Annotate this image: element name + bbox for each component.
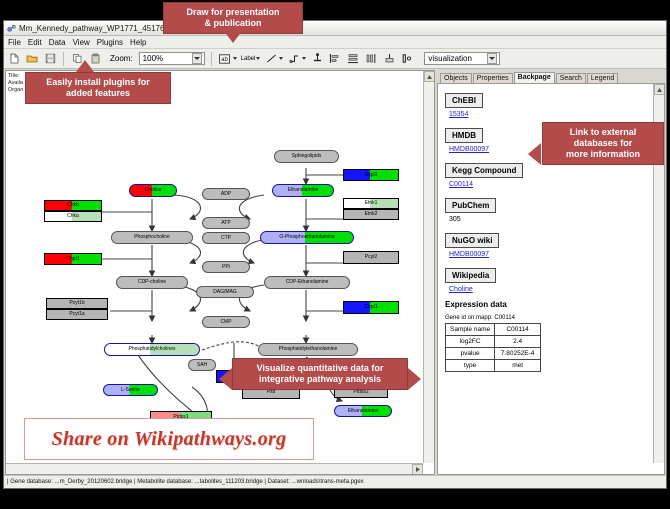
callout-visualize: Visualize quantitative data for integrat… [232,358,408,390]
toolbar-separator [63,52,64,66]
zoom-combobox[interactable]: 100% [139,52,205,65]
menu-view[interactable]: View [73,38,90,47]
node-sphingolipids[interactable]: Sphingolipids [274,150,339,163]
gene-etnk2[interactable]: Etnk2 [343,209,399,220]
status-bar: | Gene database: ...m_Derby_20120602.bri… [4,475,666,488]
node-atp[interactable]: ATP [202,217,250,229]
node-o-phosphoethanolamine[interactable]: O-Phosphoethanolamine [260,231,354,244]
callout-plugins: Easily install plugins for added feature… [25,72,171,104]
db-link-chebi[interactable]: 15354 [449,111,646,118]
status-text: | Gene database: ...m_Derby_20120602.bri… [7,479,364,485]
pathvisio-icon [7,24,16,33]
save-icon[interactable] [43,52,57,66]
gene-chpt1[interactable]: Chpt1 [44,253,102,265]
gene-id-label: Gene id on mapp: C00114 [445,315,646,321]
gene-chka[interactable]: Chka [44,211,102,222]
align-left-icon[interactable] [328,52,342,66]
table-row: log2FC 2.4 [446,336,541,348]
meta-availability: Availa [8,80,23,87]
node-cmp[interactable]: CMP [202,316,250,328]
expression-data-heading: Expression data [445,300,646,309]
db-header-nugo: NuGO wiki [445,233,499,248]
zoom-dropdown-arrow[interactable] [192,53,202,64]
side-panel-tabs: Objects Properties Backpage Search Legen… [437,70,665,83]
callout-draw-line1: Draw for presentation [170,7,296,18]
visualization-combobox[interactable]: visualization [424,52,500,65]
table-row: Sample name C00114 [446,324,541,336]
callout-link-line1: Link to external [549,127,657,138]
tab-objects[interactable]: Objects [440,73,472,83]
db-link-wikipedia[interactable]: Choline [449,286,646,293]
visualization-value: visualization [428,54,472,63]
open-folder-icon[interactable] [25,52,39,66]
cell-key-sample-name: Sample name [446,324,495,336]
canvas-vertical-scrollbar[interactable] [423,71,434,463]
line-icon[interactable] [264,52,278,66]
cell-key-pvalue: pvalue [446,348,495,360]
toolbar: Zoom: 100% ab Label [4,49,666,69]
node-adp[interactable]: ADP [202,188,250,200]
node-choline-top[interactable]: Choline [129,184,177,197]
title-bar: Mm_Kennedy_pathway_WP1771_45176.gpml [4,21,666,36]
window-title: Mm_Kennedy_pathway_WP1771_45176.gpml [19,24,184,33]
node-l-serine-left[interactable]: L-Serine [103,384,158,396]
callout-link: Link to external databases for more info… [542,122,664,165]
share-text: Share on Wikipathways.org [52,428,287,451]
chevron-down-icon[interactable] [233,57,237,60]
gene-etnk1[interactable]: Etnk1 [343,198,399,209]
label-tool[interactable]: Label [241,56,261,62]
node-ethanolamine-lower[interactable]: Ethanolamine [334,405,392,417]
connector-icon[interactable] [287,52,301,66]
db-link-nugo[interactable]: HMDB00097 [449,251,646,258]
menu-data[interactable]: Data [49,38,66,47]
node-phosphatidylethanolamine[interactable]: Phosphatidylethanolamine [258,343,358,356]
node-phosphocholine[interactable]: Phosphocholine [111,231,193,244]
db-header-kegg: Kegg Compound [445,163,523,178]
chevron-down-icon-4[interactable] [302,57,306,60]
node-sah[interactable]: SAH [188,359,216,371]
cell-key-type: type [446,360,495,372]
callout-share: Share on Wikipathways.org [24,418,314,460]
callout-link-line3: more information [549,149,657,160]
gene-chkb[interactable]: Chkb [44,200,102,211]
chevron-down-icon-2[interactable] [256,57,260,60]
cell-value-type: met [495,360,541,372]
callout-draw-line2: & publication [170,18,296,29]
menu-plugins[interactable]: Plugins [97,38,123,47]
node-ctp[interactable]: CTP [202,232,250,244]
tab-properties[interactable]: Properties [473,73,513,83]
tab-search[interactable]: Search [556,73,586,83]
chevron-down-icon-3[interactable] [279,57,283,60]
callout-plugins-line2: added features [32,88,164,99]
align-rows-icon[interactable] [346,52,360,66]
gene-cept1[interactable]: Cept1 [343,301,399,314]
db-header-wikipedia: Wikipedia [445,268,496,283]
panel-scroll-up-arrow[interactable] [654,84,665,95]
gene-pcyt2[interactable]: Pcyt2 [343,251,399,264]
node-ethanolamine[interactable]: Ethanolamine [272,184,334,197]
canvas-surface[interactable]: Title: Availa Organ [6,71,434,474]
callout-visualize-arrow-right [408,368,421,390]
menu-edit[interactable]: Edit [28,38,42,47]
cell-value-sample-name: C00114 [495,324,541,336]
callout-plugins-line1: Easily install plugins for [32,77,164,88]
db-link-kegg[interactable]: C00114 [449,181,646,188]
visualization-dropdown-arrow[interactable] [487,53,497,64]
meta-organism: Organ [8,87,23,94]
node-cdp-choline[interactable]: CDP-choline [116,276,188,289]
canvas-horizontal-scrollbar[interactable] [6,463,423,474]
table-row: pvalue 7.80252E-4 [446,348,541,360]
meta-title: Title: [8,73,23,80]
cell-value-log2fc: 2.4 [495,336,541,348]
label-tool-text: Label [241,56,256,62]
group-icon[interactable] [400,52,414,66]
node-cdp-ethanolamine[interactable]: CDP-Ethanolamine [264,276,350,289]
callout-visualize-arrow-left [219,368,232,390]
db-value-pubchem: 305 [449,216,646,223]
gene-pcyt1b[interactable]: Pcyt1b [46,298,108,309]
cell-key-log2fc: log2FC [446,336,495,348]
callout-link-arrow [528,143,541,165]
cell-value-pvalue: 7.80252E-4 [495,348,541,360]
node-phosphatidylcholines[interactable]: Phosphatidylcholines [104,343,200,356]
zoom-value: 100% [143,54,163,63]
pathway-metadata: Title: Availa Organ [8,73,23,94]
text-label-icon[interactable]: ab [218,52,232,66]
gene-sgpl1[interactable]: Sgpl1 [343,169,399,181]
svg-text:ab: ab [221,57,228,63]
scroll-up-arrow[interactable] [424,71,435,82]
callout-visualize-line2: integrative pathway analysis [239,374,401,385]
db-header-chebi: ChEBI [445,93,483,108]
scroll-right-arrow[interactable] [412,464,423,475]
db-header-pubchem: PubChem [445,198,496,213]
gene-pcyt1a[interactable]: Pcyt1a [46,309,108,320]
menu-help[interactable]: Help [130,38,146,47]
callout-link-line2: databases for [549,138,657,149]
new-file-icon[interactable] [7,52,21,66]
pathway-canvas[interactable]: Title: Availa Organ [5,70,435,475]
connector-tool[interactable] [287,52,306,66]
callout-draw-arrow [224,31,242,43]
stack-icon[interactable] [382,52,396,66]
line-tool[interactable] [264,52,283,66]
callout-plugins-arrow [76,60,94,72]
zoom-label: Zoom: [110,54,133,63]
callout-visualize-line1: Visualize quantitative data for [239,363,401,374]
text-label-tool[interactable]: ab [218,52,237,66]
callout-draw: Draw for presentation & publication [163,2,303,34]
align-columns-icon[interactable] [364,52,378,66]
node-dag-mag[interactable]: DAG/MAG [196,286,254,298]
anchor-icon[interactable] [310,52,324,66]
tab-legend[interactable]: Legend [587,73,618,83]
table-row: type met [446,360,541,372]
db-header-hmdb: HMDB [445,128,483,143]
menu-bar: File Edit Data View Plugins Help [4,36,666,49]
expression-table: Sample name C00114 log2FC 2.4 pvalue 7.8… [445,323,541,372]
toolbar-separator-2 [211,52,212,66]
tab-backpage[interactable]: Backpage [514,72,555,83]
node-ppi[interactable]: PPi [202,261,250,273]
menu-file[interactable]: File [8,38,21,47]
